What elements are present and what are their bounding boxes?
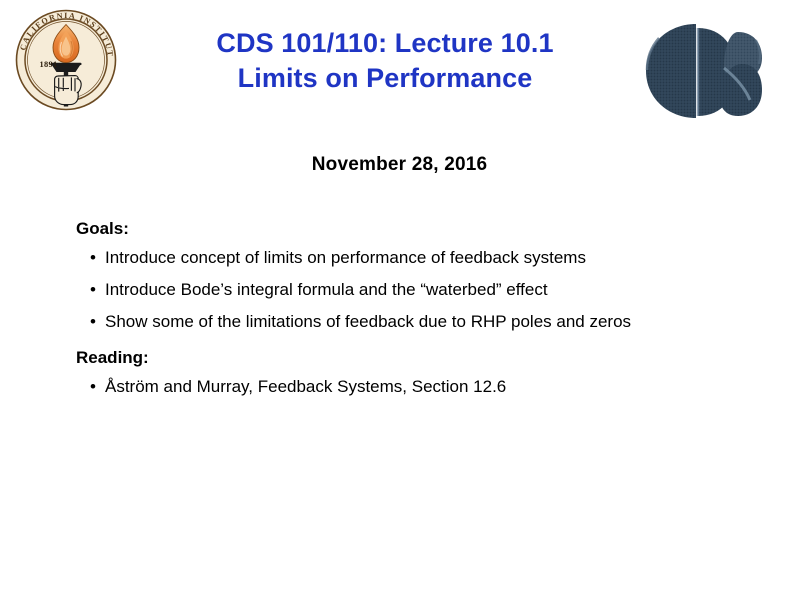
bullet-icon: • bbox=[90, 280, 96, 300]
svg-text:1891: 1891 bbox=[40, 60, 58, 69]
slide-body: Goals: • Introduce concept of limits on … bbox=[76, 219, 766, 397]
list-item: • Show some of the limitations of feedba… bbox=[76, 312, 766, 332]
caltech-seal-icon: CALIFORNIA INSTITUTE OF TECHNOLOGY bbox=[14, 8, 118, 112]
section-heading-reading: Reading: bbox=[76, 348, 766, 368]
section-reading: Reading: • Åström and Murray, Feedback S… bbox=[76, 348, 766, 397]
list-item: • Åström and Murray, Feedback Systems, S… bbox=[76, 377, 766, 397]
list-item-text: Introduce Bode’s integral formula and th… bbox=[105, 280, 548, 299]
bullet-icon: • bbox=[90, 248, 96, 268]
page-title: CDS 101/110: Lecture 10.1 Limits on Perf… bbox=[130, 26, 640, 96]
lecture-date: November 28, 2016 bbox=[0, 154, 799, 176]
list-item-text: Introduce concept of limits on performan… bbox=[105, 248, 586, 267]
title-line-2: Limits on Performance bbox=[130, 61, 640, 96]
title-line-1: CDS 101/110: Lecture 10.1 bbox=[130, 26, 640, 61]
goals-bullet-list: • Introduce concept of limits on perform… bbox=[76, 248, 766, 332]
reading-bullet-list: • Åström and Murray, Feedback Systems, S… bbox=[76, 377, 766, 397]
bullet-icon: • bbox=[90, 377, 96, 397]
list-item: • Introduce concept of limits on perform… bbox=[76, 248, 766, 268]
list-item-text: Show some of the limitations of feedback… bbox=[105, 312, 631, 331]
section-divider-space bbox=[76, 332, 766, 348]
list-item: • Introduce Bode’s integral formula and … bbox=[76, 280, 766, 300]
section-goals: Goals: • Introduce concept of limits on … bbox=[76, 219, 766, 332]
section-heading-goals: Goals: bbox=[76, 219, 766, 239]
slide-canvas: CALIFORNIA INSTITUTE OF TECHNOLOGY bbox=[0, 0, 799, 599]
bullet-icon: • bbox=[90, 312, 96, 332]
list-item-text: Åström and Murray, Feedback Systems, Sec… bbox=[105, 377, 506, 396]
cds-logo-icon bbox=[638, 18, 766, 122]
